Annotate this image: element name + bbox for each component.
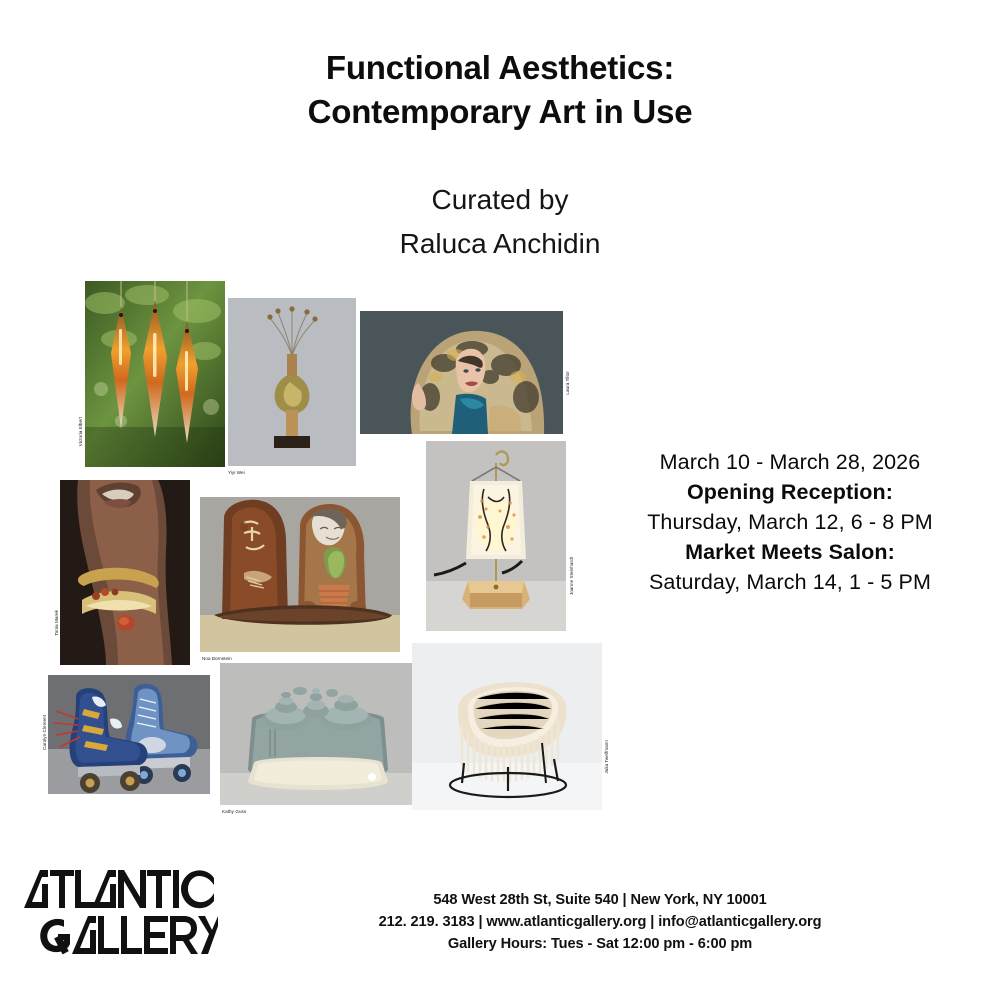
artwork-credit-0: Victoria Elbert (78, 417, 83, 446)
opening-reception-detail: Thursday, March 12, 6 - 8 PM (600, 507, 980, 537)
opening-reception-heading: Opening Reception: (600, 477, 980, 507)
artwork-image-5 (426, 441, 566, 631)
atlantic-gallery-logo (18, 864, 218, 956)
artwork-tile-3[interactable] (60, 480, 190, 665)
curator-block: Curated by Raluca Anchidin (0, 178, 1000, 266)
event-dates: March 10 - March 28, 2026 (600, 447, 980, 477)
title-line-1: Functional Aesthetics: (0, 46, 1000, 90)
event-details: March 10 - March 28, 2026 Opening Recept… (600, 447, 980, 597)
artwork-image-6 (48, 675, 210, 794)
artwork-image-2 (360, 311, 563, 434)
footer-phone-web-email[interactable]: 212. 219. 3183 | www.atlanticgallery.org… (250, 911, 950, 933)
artwork-credit-7: Kathy Guss (222, 809, 246, 814)
title-line-2: Contemporary Art in Use (0, 90, 1000, 134)
artwork-tile-1[interactable] (228, 298, 356, 466)
artwork-tile-0[interactable] (85, 281, 225, 467)
artwork-credit-4: Noa Bornstein (202, 656, 232, 661)
market-meets-salon-detail: Saturday, March 14, 1 - 5 PM (600, 567, 980, 597)
artwork-credit-6: Carolyn Clement (42, 715, 47, 750)
curated-by-label: Curated by (0, 178, 1000, 222)
artwork-image-7 (220, 663, 416, 805)
artwork-image-0 (85, 281, 225, 467)
artwork-image-8 (412, 643, 602, 810)
logo-mark (18, 864, 218, 956)
artwork-tile-8[interactable] (412, 643, 602, 810)
artwork-image-4 (200, 497, 400, 652)
artwork-tile-4[interactable] (200, 497, 400, 652)
artwork-image-3 (60, 480, 190, 665)
artwork-tile-6[interactable] (48, 675, 210, 794)
footer-address: 548 West 28th St, Suite 540 | New York, … (250, 889, 950, 911)
market-meets-salon-heading: Market Meets Salon: (600, 537, 980, 567)
artwork-tile-5[interactable] (426, 441, 566, 631)
page-title: Functional Aesthetics: Contemporary Art … (0, 46, 1000, 134)
artwork-credit-3: Tonia Marek (54, 610, 59, 636)
artwork-tile-7[interactable] (220, 663, 416, 805)
artwork-credit-2: Laura Tiltor (565, 371, 570, 395)
footer-contact-info: 548 West 28th St, Suite 540 | New York, … (250, 889, 950, 955)
artwork-tile-2[interactable] (360, 311, 563, 434)
footer-gallery-hours: Gallery Hours: Tues - Sat 12:00 pm - 6:0… (250, 933, 950, 955)
artwork-collage: Victoria Elbert Yiy (30, 265, 610, 810)
artwork-credit-5: Joanne Steinhardt (569, 557, 574, 595)
curator-name: Raluca Anchidin (0, 222, 1000, 266)
artwork-credit-8: Julia Twelfmann (604, 740, 609, 774)
artwork-image-1 (228, 298, 356, 466)
artwork-credit-1: Yiyi Wei (228, 470, 245, 475)
